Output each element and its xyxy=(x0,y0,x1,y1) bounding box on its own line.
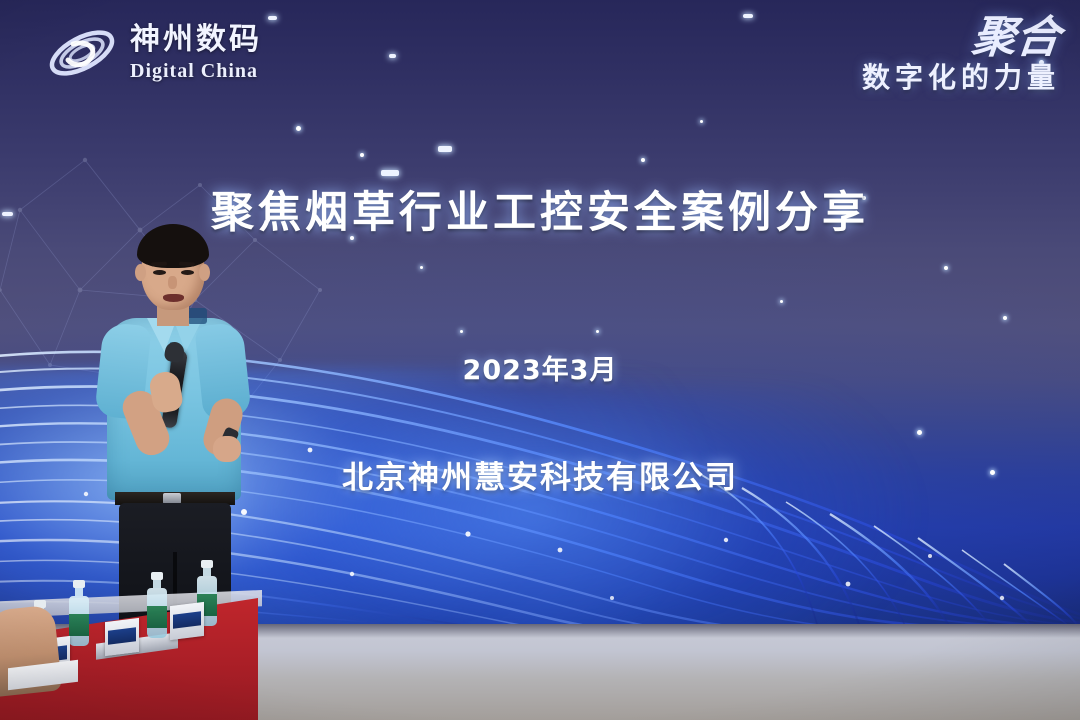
speaker-nose xyxy=(168,276,177,289)
speaker-ear-right xyxy=(199,264,210,281)
light-particle xyxy=(268,16,277,20)
light-particle xyxy=(296,126,301,131)
swirl-galaxy-icon xyxy=(44,22,120,84)
event-mark: 聚合 数字化的力量 xyxy=(862,16,1060,92)
brand-logo: 神州数码 Digital China xyxy=(44,22,262,84)
speaker-chest-logo xyxy=(187,308,207,324)
stage-photo: 聚焦烟草行业工控安全案例分享 2023年3月 北京神州慧安科技有限公司 神州数码… xyxy=(0,0,1080,720)
light-particle xyxy=(743,14,753,18)
speaker-hair xyxy=(137,224,209,268)
name-card-tent xyxy=(170,602,204,640)
light-particle xyxy=(389,54,396,58)
event-calligraphy: 聚合 xyxy=(970,16,1063,60)
light-particle xyxy=(420,266,423,269)
bottle-cap xyxy=(73,580,85,588)
speaker-ear-left xyxy=(135,264,146,281)
speaker-eye-right xyxy=(181,270,194,275)
foreground-table xyxy=(0,560,268,720)
speaker-hand-right xyxy=(213,436,241,462)
bottle-label xyxy=(69,614,89,636)
light-particle xyxy=(438,146,452,152)
brand-name-en: Digital China xyxy=(130,61,262,81)
name-card-tent xyxy=(105,618,139,656)
light-particle xyxy=(360,153,364,157)
speaker-eye-left xyxy=(153,270,166,275)
event-subtitle: 数字化的力量 xyxy=(862,64,1060,92)
water-bottle xyxy=(69,580,89,646)
light-particle xyxy=(700,120,703,123)
bottle-label xyxy=(147,606,167,628)
water-bottle xyxy=(147,572,167,638)
name-card-bar xyxy=(173,611,201,628)
brand-name-cn: 神州数码 xyxy=(130,25,262,55)
light-particle xyxy=(944,266,948,270)
name-card-bar xyxy=(108,627,136,644)
speaker-mouth xyxy=(163,294,184,302)
bottle-cap xyxy=(201,560,213,568)
light-particle xyxy=(641,158,645,162)
bottle-cap xyxy=(151,572,163,580)
light-particle xyxy=(381,170,399,176)
